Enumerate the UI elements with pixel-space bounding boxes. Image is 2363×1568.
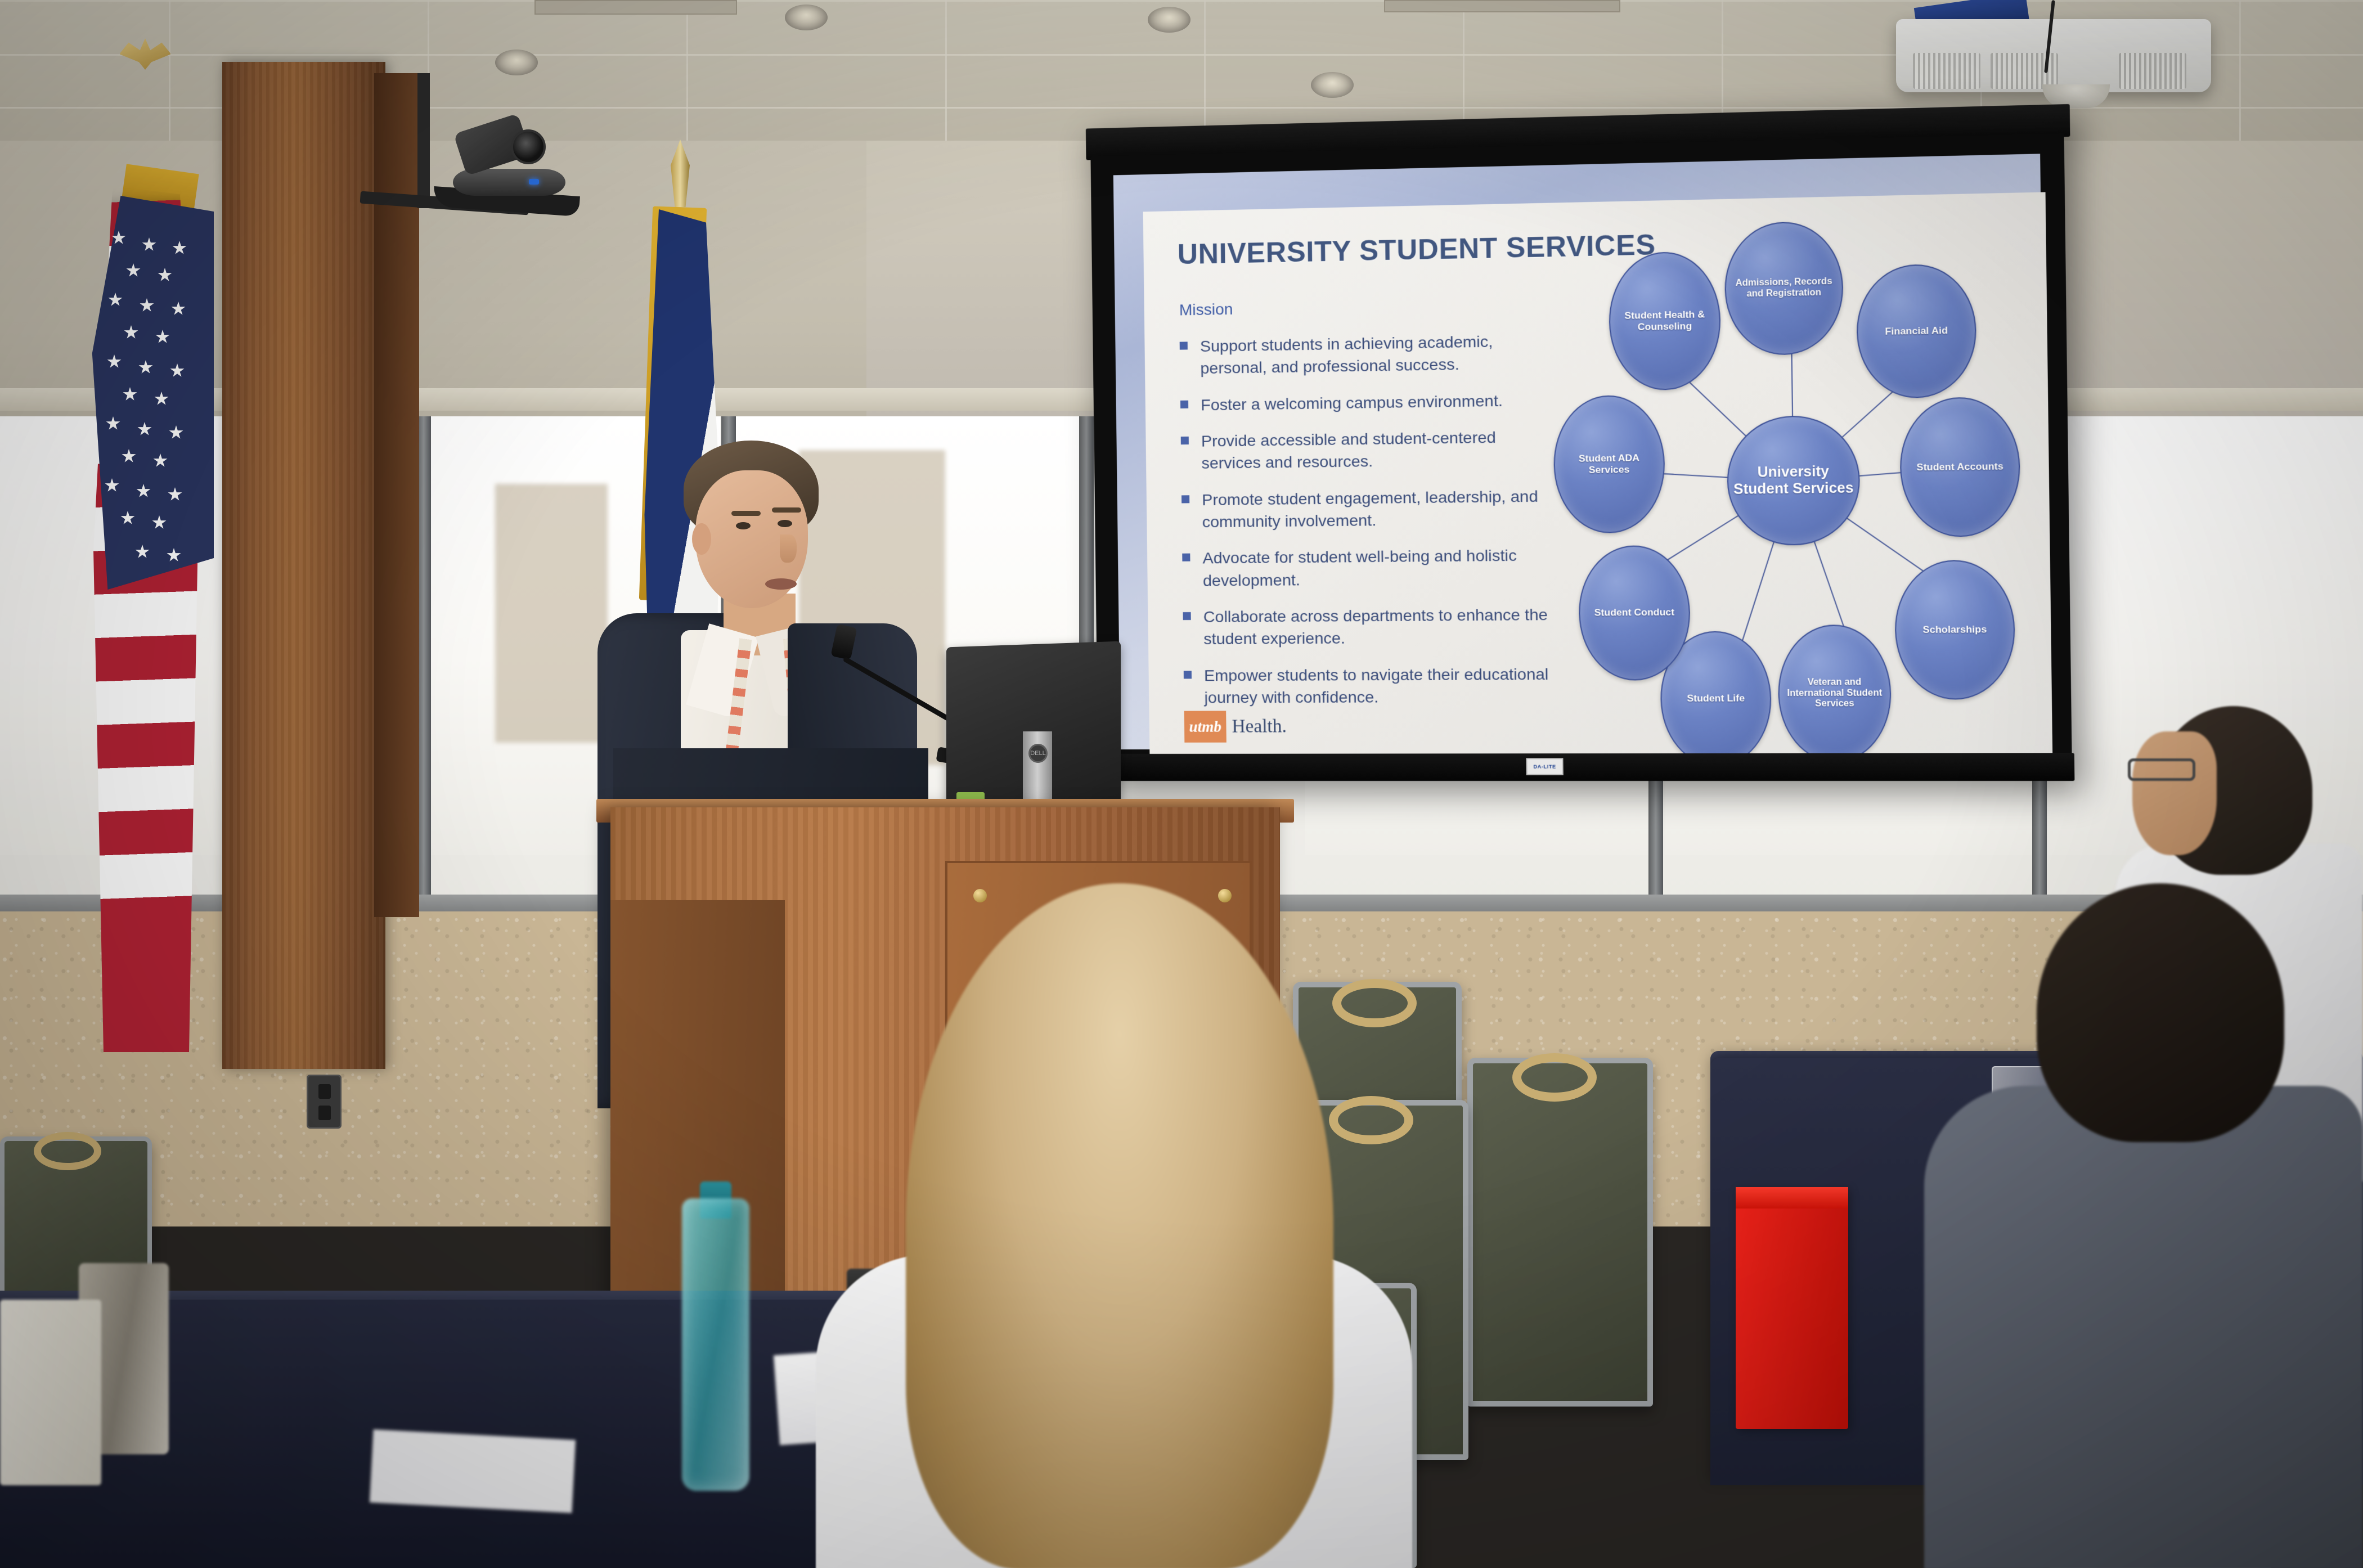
diagram-node-health-counseling: Student Health & Counseling	[1608, 251, 1721, 391]
ceiling-downlight	[1311, 72, 1354, 98]
attendee-body	[1924, 1086, 2363, 1568]
attendee-head	[2037, 883, 2284, 1142]
radial-hub-diagram: University Student Services Admissions, …	[1538, 204, 2052, 763]
eyeglasses-icon	[2128, 758, 2195, 781]
projection-screen: UNIVERSITY STUDENT SERVICES Mission Supp…	[1096, 124, 2062, 775]
diagram-center-node: University Student Services	[1726, 415, 1861, 546]
wood-column	[222, 62, 385, 1069]
list-item: Support students in achieving academic, …	[1180, 330, 1547, 381]
bullet-text: Advocate for student well-being and holi…	[1202, 545, 1549, 592]
dell-logo-icon: DELL	[1028, 744, 1048, 763]
power-outlet	[307, 1075, 342, 1129]
ceiling-vent	[534, 0, 737, 15]
bullet-text: Support students in achieving academic, …	[1200, 330, 1547, 380]
bullet-marker-icon	[1183, 612, 1191, 620]
slide-section-label: Mission	[1179, 300, 1233, 320]
slide-bullet-list: Support students in achieving academic, …	[1180, 330, 1551, 724]
diagram-node-student-ada: Student ADA Services	[1553, 394, 1665, 533]
bullet-marker-icon	[1180, 400, 1188, 408]
chair-ornament-icon	[1512, 1053, 1597, 1102]
presenter-ear	[692, 523, 711, 555]
attendee-face	[2132, 731, 2217, 855]
ceiling-downlight	[495, 50, 538, 75]
ceiling-vent	[1384, 0, 1620, 12]
chair-ornament-icon	[1332, 979, 1417, 1027]
diagram-node-student-conduct: Student Conduct	[1578, 545, 1691, 681]
list-item: Advocate for student well-being and holi…	[1182, 545, 1549, 592]
screen-bottom-bar	[1095, 753, 2074, 781]
chair-ornament-icon	[1329, 1096, 1413, 1144]
utmb-logo-wordmark: Health.	[1232, 716, 1287, 737]
list-item: Foster a welcoming campus environment.	[1180, 389, 1547, 417]
water-bottle	[682, 1198, 749, 1491]
presentation-slide: UNIVERSITY STUDENT SERVICES Mission Supp…	[1143, 192, 2053, 767]
bullet-text: Provide accessible and student-centered …	[1201, 426, 1548, 475]
ceiling-downlight	[1148, 7, 1191, 33]
bullet-marker-icon	[1182, 554, 1190, 561]
bullet-marker-icon	[1180, 342, 1188, 349]
conference-room-scene: UNIVERSITY STUDENT SERVICES Mission Supp…	[0, 0, 2363, 1568]
podium-brass-stud	[1218, 889, 1232, 902]
diagram-node-admissions: Admissions, Records and Registration	[1724, 221, 1844, 356]
monitor-stand	[1023, 731, 1052, 806]
chair-ornament-icon	[34, 1132, 101, 1170]
bullet-text: Collaborate across departments to enhanc…	[1203, 604, 1551, 651]
camera-mount-arm	[417, 73, 430, 208]
podium-brass-stud	[973, 889, 987, 902]
presenter-mouth	[765, 578, 797, 590]
red-gift-bag	[1736, 1187, 1848, 1429]
camera-lens-icon	[511, 129, 546, 164]
bullet-marker-icon	[1181, 495, 1189, 503]
camera-status-led	[529, 179, 539, 185]
papers	[370, 1430, 576, 1513]
ceiling-downlight	[785, 5, 828, 30]
attendee-hair	[906, 883, 1333, 1568]
screen-brand-plate: DA-LITE	[1526, 758, 1563, 775]
bullet-marker-icon	[1181, 437, 1189, 444]
diagram-node-scholarships: Scholarships	[1894, 560, 2016, 700]
screen-surface: UNIVERSITY STUDENT SERVICES Mission Supp…	[1113, 154, 2048, 749]
bullet-text: Foster a welcoming campus environment.	[1201, 390, 1503, 416]
utmb-health-logo: utmb Health.	[1184, 711, 1287, 743]
utmb-logo-text: utmb	[1189, 718, 1221, 735]
list-item: Collaborate across departments to enhanc…	[1183, 604, 1550, 651]
diagram-node-financial-aid: Financial Aid	[1856, 263, 1977, 399]
banquet-chair	[1467, 1058, 1653, 1407]
diagram-node-veteran-intl: Veteran and International Student Servic…	[1777, 624, 1892, 762]
list-item: Empower students to navigate their educa…	[1184, 663, 1551, 709]
bullet-text: Empower students to navigate their educa…	[1204, 663, 1551, 709]
utmb-logo-mark: utmb	[1184, 711, 1227, 742]
projector	[1896, 19, 2211, 92]
bullet-text: Promote student engagement, leadership, …	[1202, 486, 1549, 534]
creamer-container	[0, 1300, 101, 1485]
diagram-node-student-accounts: Student Accounts	[1899, 397, 2021, 537]
list-item: Promote student engagement, leadership, …	[1181, 486, 1549, 534]
list-item: Provide accessible and student-centered …	[1181, 426, 1548, 475]
presenter-nose	[780, 534, 797, 563]
bullet-marker-icon	[1184, 671, 1192, 679]
